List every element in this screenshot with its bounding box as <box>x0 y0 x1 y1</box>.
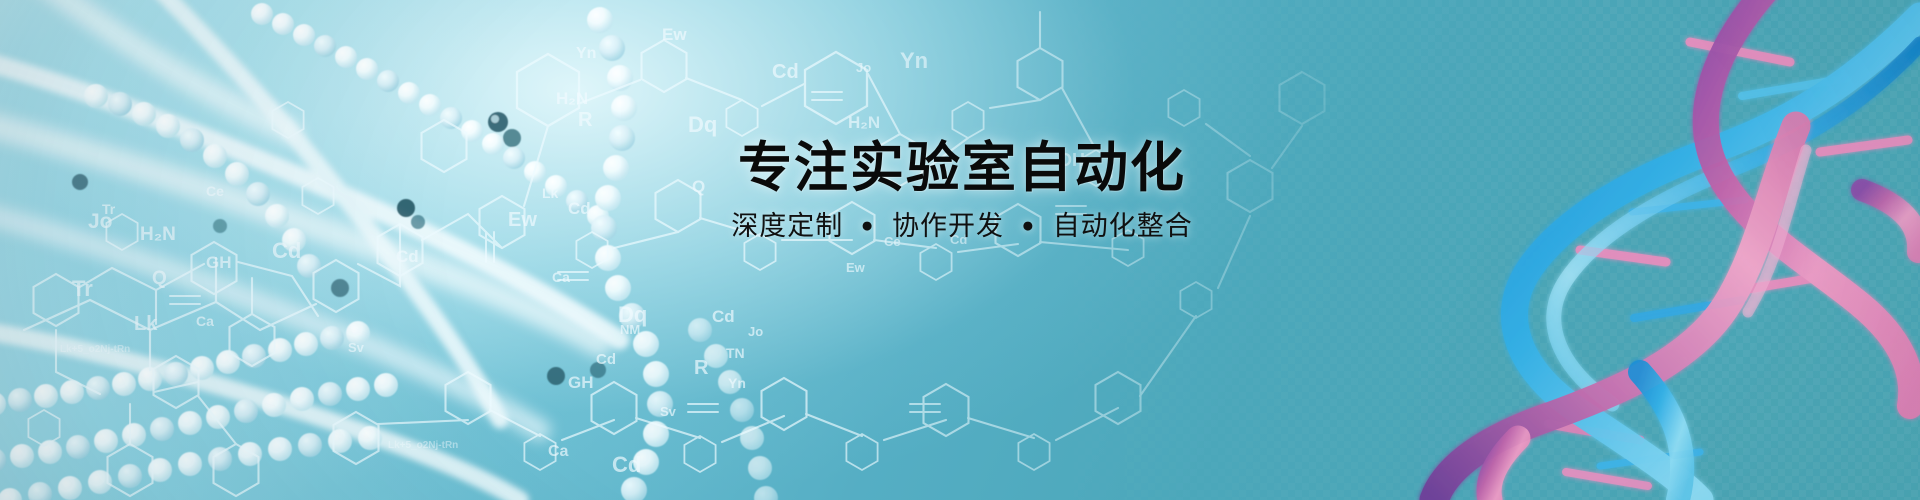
chem-label: H₂N <box>556 89 588 108</box>
chem-label: Jo <box>748 324 763 339</box>
chem-label: Yn <box>728 375 746 391</box>
chem-label: Ew <box>508 209 537 231</box>
chem-label: TN <box>726 345 745 361</box>
chem-label: Lk+5_o2Nj-tRn <box>60 344 130 355</box>
chem-label-group: CdJoYnEwYnH₂NRDqH₂NOHCeJoTrEwCdLkQH₂NCdG… <box>60 25 1085 477</box>
chem-label: R <box>694 357 709 379</box>
chem-label: Sv <box>660 404 677 419</box>
chem-label: Lk <box>542 185 559 201</box>
bullet-separator-icon: ● <box>1022 214 1036 237</box>
chem-label: Cd <box>772 61 799 83</box>
chem-label: Cd <box>712 307 735 326</box>
chem-label: Ca <box>552 269 570 285</box>
chem-label: Cd <box>396 247 419 266</box>
banner-headline: 专注实验室自动化 <box>612 140 1312 196</box>
chem-label: Sv <box>348 340 365 355</box>
chem-label: Cd <box>612 452 641 477</box>
chem-label: GH <box>568 373 594 392</box>
chem-label: Yn <box>576 45 596 62</box>
chem-label: Ew <box>846 260 866 275</box>
subtitle-part-3: 自动化整合 <box>1053 211 1193 241</box>
chemical-structure-overlay: CdJoYnEwYnH₂NRDqH₂NOHCeJoTrEwCdLkQH₂NCdG… <box>0 0 1920 500</box>
chem-label: Tr <box>102 201 116 217</box>
chem-label: GH <box>206 253 232 272</box>
chem-label: Ca <box>548 443 569 460</box>
chem-label: Ew <box>662 25 687 44</box>
chem-label: Cd <box>568 199 591 218</box>
banner-subtitle: 深度定制 ● 协作开发 ● 自动化整合 <box>612 212 1312 242</box>
chem-label: Dq <box>688 112 717 137</box>
chem-label: Lk <box>134 313 158 335</box>
hero-banner: CdJoYnEwYnH₂NRDqH₂NOHCeJoTrEwCdLkQH₂NCdG… <box>0 0 1920 500</box>
chem-label: R <box>578 109 593 131</box>
chem-label: Ce <box>206 183 224 199</box>
banner-copy: 专注实验室自动化 深度定制 ● 协作开发 ● 自动化整合 <box>612 140 1312 242</box>
chem-label: Lk+5_o2Nj-tRn <box>388 440 458 451</box>
chem-label: H₂N <box>848 113 880 132</box>
subtitle-part-2: 协作开发 <box>892 211 1004 241</box>
chem-label: Yn <box>900 48 928 73</box>
chem-label: Jo <box>856 60 871 75</box>
chem-label: Q <box>152 268 167 289</box>
chem-label: Cd <box>272 238 301 263</box>
chem-label: H₂N <box>140 224 176 245</box>
chem-label: NM <box>620 322 640 337</box>
chem-label: Tr <box>72 276 93 301</box>
chem-label: Ca <box>196 313 214 329</box>
chem-label: Cd <box>596 351 616 368</box>
subtitle-part-1: 深度定制 <box>731 211 843 241</box>
bullet-separator-icon: ● <box>861 214 875 237</box>
